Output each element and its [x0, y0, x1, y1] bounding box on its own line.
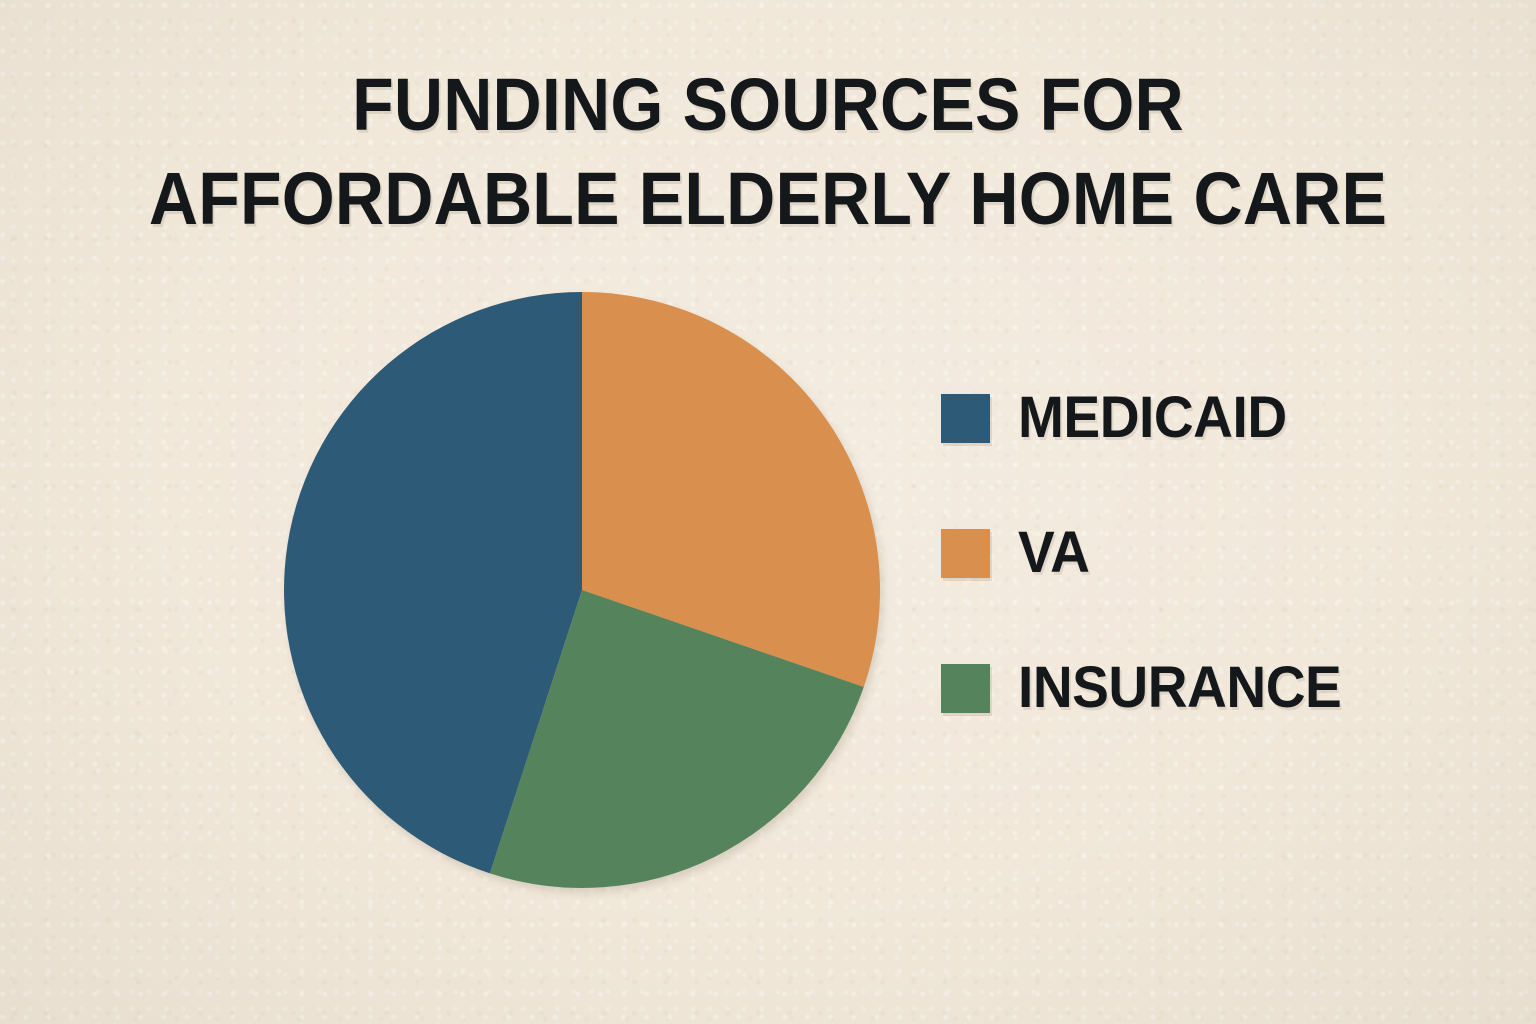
chart-legend: MEDICAID VA INSURANCE	[941, 386, 1461, 720]
legend-label-insurance: INSURANCE	[1018, 659, 1341, 717]
legend-label-medicaid: MEDICAID	[1018, 389, 1287, 447]
legend-swatch-insurance	[941, 664, 990, 713]
legend-swatch-medicaid	[941, 394, 990, 443]
pie-chart	[282, 290, 882, 890]
legend-item-insurance[interactable]: INSURANCE	[941, 656, 1461, 720]
poster-canvas: FUNDING SOURCES FOR AFFORDABLE ELDERLY H…	[0, 0, 1536, 1024]
legend-label-va: VA	[1018, 524, 1090, 582]
pie-chart-svg	[282, 290, 882, 890]
title-line-2: AFFORDABLE ELDERLY HOME CARE	[61, 152, 1474, 246]
legend-swatch-va	[941, 529, 990, 578]
page-title: FUNDING SOURCES FOR AFFORDABLE ELDERLY H…	[0, 58, 1536, 246]
legend-item-medicaid[interactable]: MEDICAID	[941, 386, 1461, 450]
title-line-1: FUNDING SOURCES FOR	[61, 58, 1474, 152]
pie-slice-group	[284, 292, 880, 888]
legend-item-va[interactable]: VA	[941, 521, 1461, 585]
